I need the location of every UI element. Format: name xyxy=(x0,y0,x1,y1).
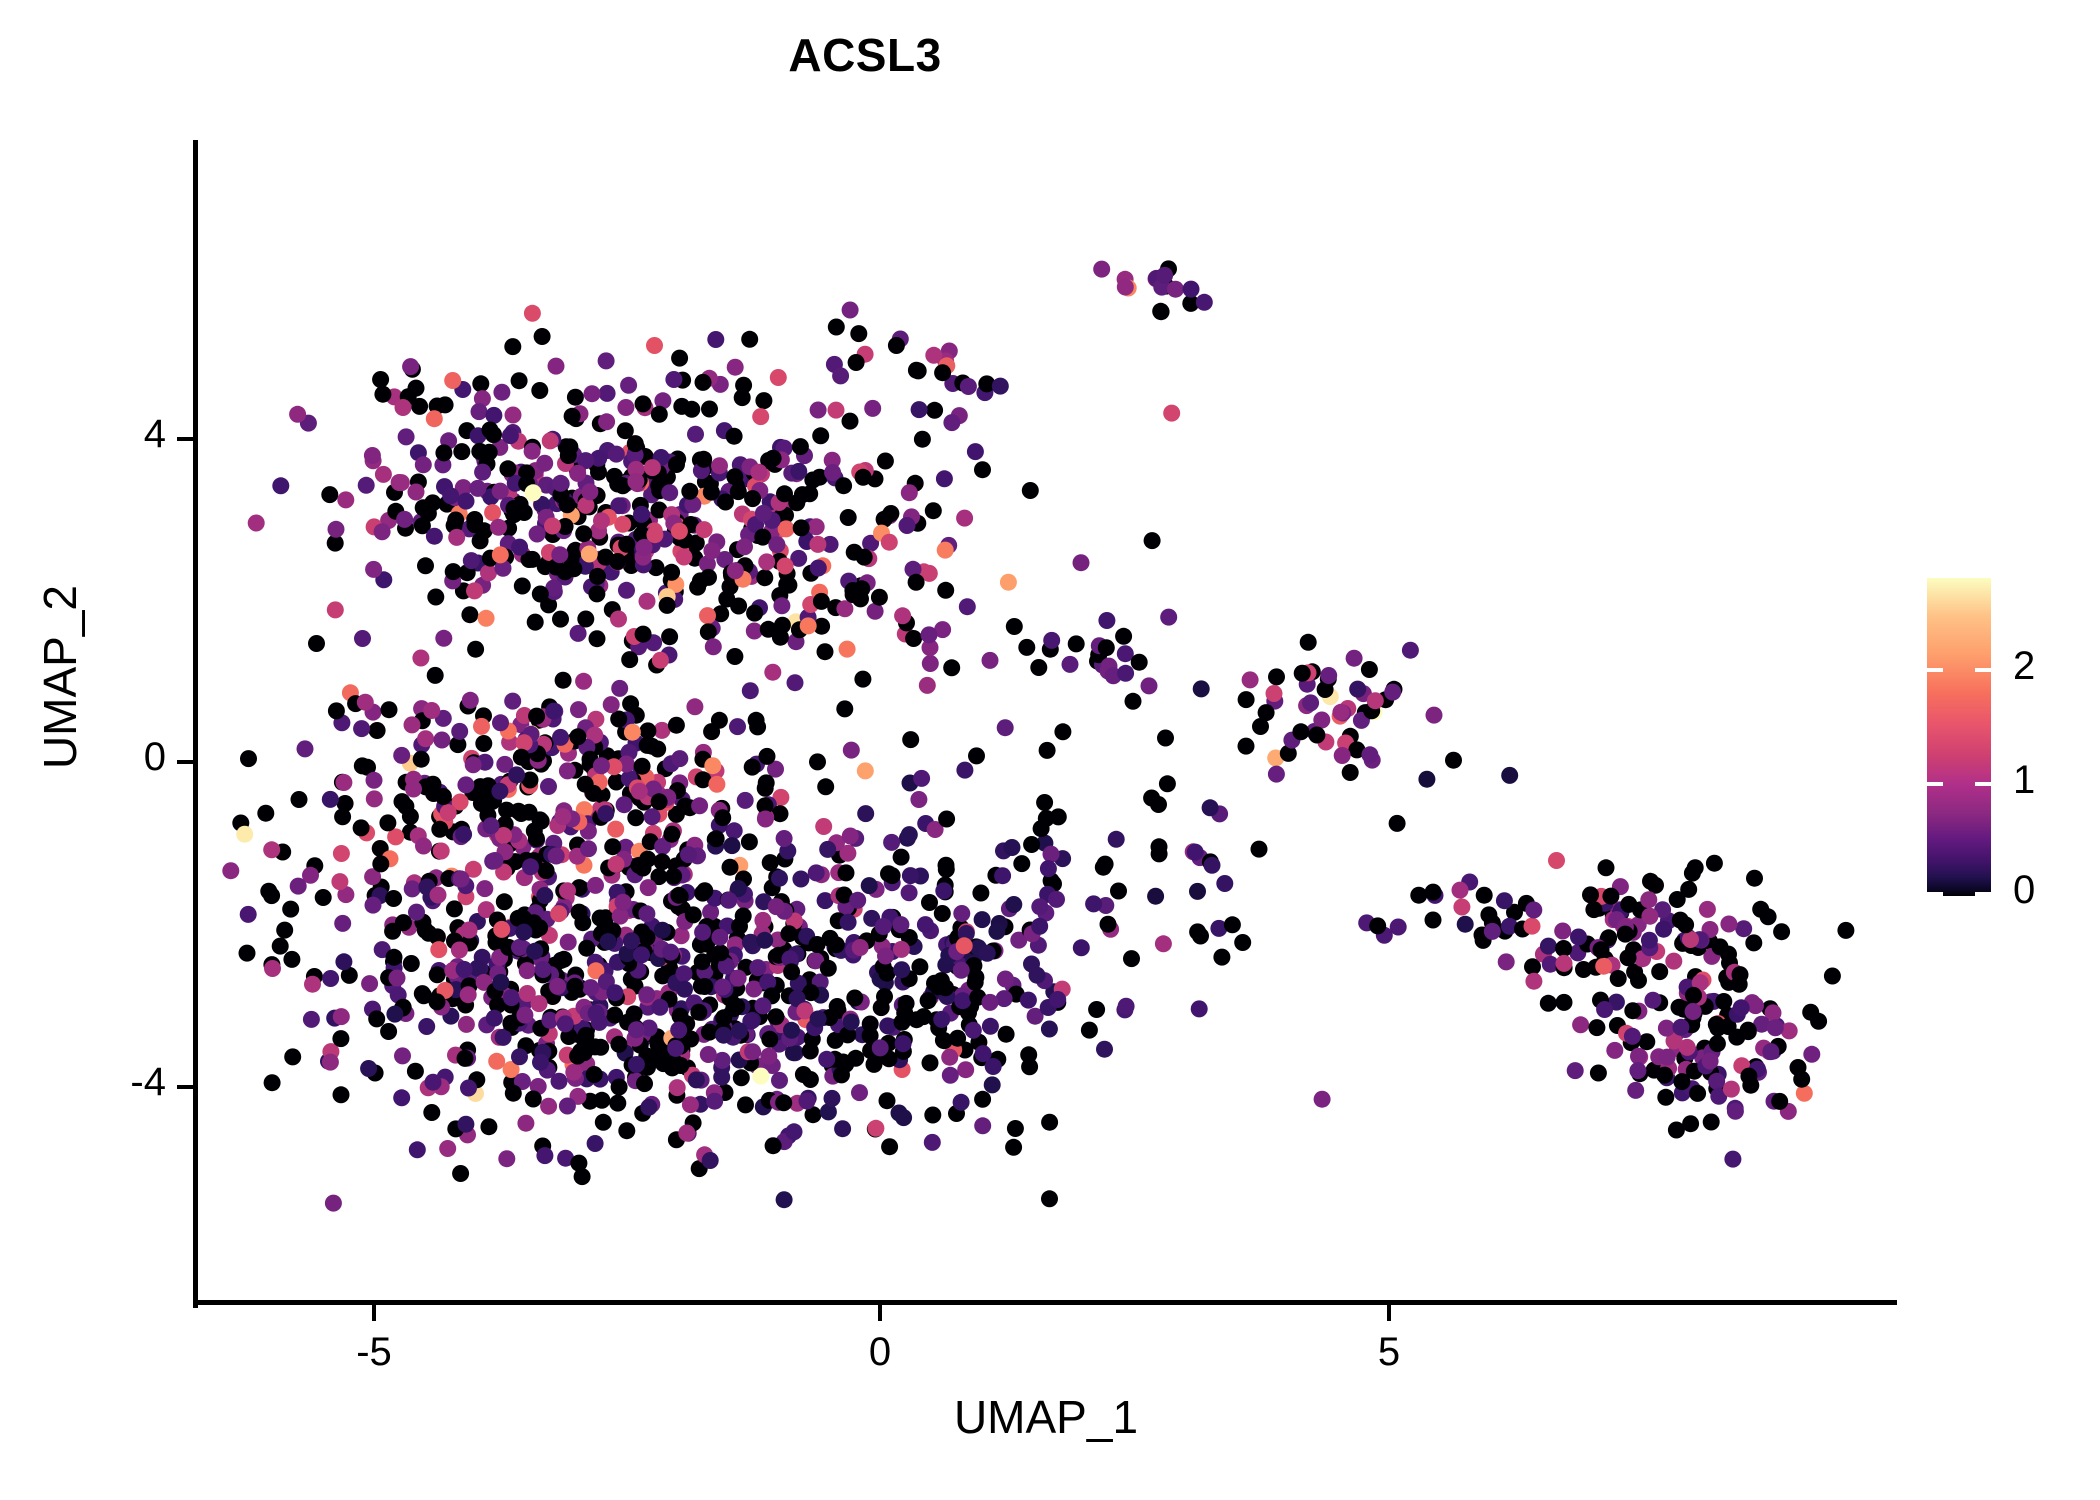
x-tick--5 xyxy=(372,1305,376,1321)
colorbar-tick-1-right xyxy=(1975,782,1991,786)
y-tick-label-4: 4 xyxy=(46,412,166,457)
colorbar-tick-2-left xyxy=(1927,668,1943,672)
colorbar-tick-1-left xyxy=(1927,782,1943,786)
x-tick-label--5: -5 xyxy=(304,1330,444,1375)
colorbar-label-1: 1 xyxy=(2013,758,2035,803)
y-tick-4 xyxy=(177,437,193,441)
x-tick-0 xyxy=(878,1305,882,1321)
colorbar-tick-0-left xyxy=(1927,892,1943,896)
y-tick-0 xyxy=(177,760,193,764)
chart-root: ACSL3 4 0 -4 -5 0 5 UMAP_2 UMAP_1 2 1 0 xyxy=(0,0,2100,1500)
colorbar-gradient xyxy=(1927,578,1991,896)
colorbar-tick-2-right xyxy=(1975,668,1991,672)
x-axis-label: UMAP_1 xyxy=(196,1390,1896,1444)
x-tick-label-0: 0 xyxy=(810,1330,950,1375)
y-axis-label: UMAP_2 xyxy=(33,477,87,877)
y-axis-line xyxy=(193,140,198,1308)
y-tick--4 xyxy=(177,1085,193,1089)
scatter-points-layer xyxy=(0,0,2100,1500)
chart-title: ACSL3 xyxy=(0,28,1730,82)
x-axis-line xyxy=(193,1300,1897,1305)
colorbar-label-2: 2 xyxy=(2013,644,2035,689)
colorbar-label-0: 0 xyxy=(2013,868,2035,913)
colorbar-tick-0-right xyxy=(1975,892,1991,896)
y-tick-label--4: -4 xyxy=(46,1060,166,1105)
colorbar-legend: 2 1 0 xyxy=(1927,578,1991,896)
x-tick-label-5: 5 xyxy=(1319,1330,1459,1375)
x-tick-5 xyxy=(1387,1305,1391,1321)
